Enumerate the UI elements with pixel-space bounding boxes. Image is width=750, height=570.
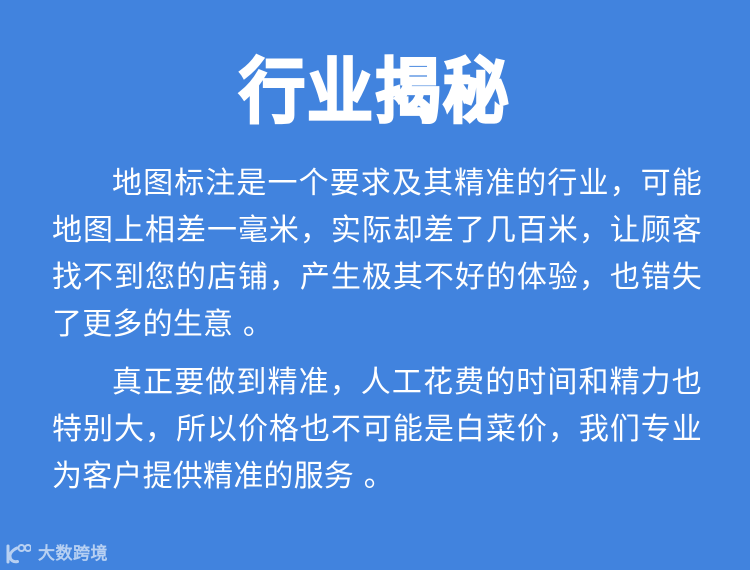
body-paragraph-1: 地图标注是一个要求及其精准的行业，可能地图上相差一毫米，实际却差了几百米，让顾客…: [52, 160, 702, 348]
body-paragraph-2: 真正要做到精准，人工花费的时间和精力也特别大，所以价格也不可能是白菜价，我们专业…: [52, 359, 702, 500]
poster-title-container: 行业揭秘: [0, 58, 750, 126]
watermark: 大数跨境: [5, 543, 108, 565]
watermark-label: 大数跨境: [38, 544, 108, 564]
page-title: 行业揭秘: [239, 53, 510, 131]
brand-logo-icon: [5, 543, 31, 565]
poster-body-copy: 地图标注是一个要求及其精准的行业，可能地图上相差一毫米，实际却差了几百米，让顾客…: [52, 160, 702, 500]
poster-canvas: 行业揭秘 地图标注是一个要求及其精准的行业，可能地图上相差一毫米，实际却差了几百…: [0, 0, 750, 570]
